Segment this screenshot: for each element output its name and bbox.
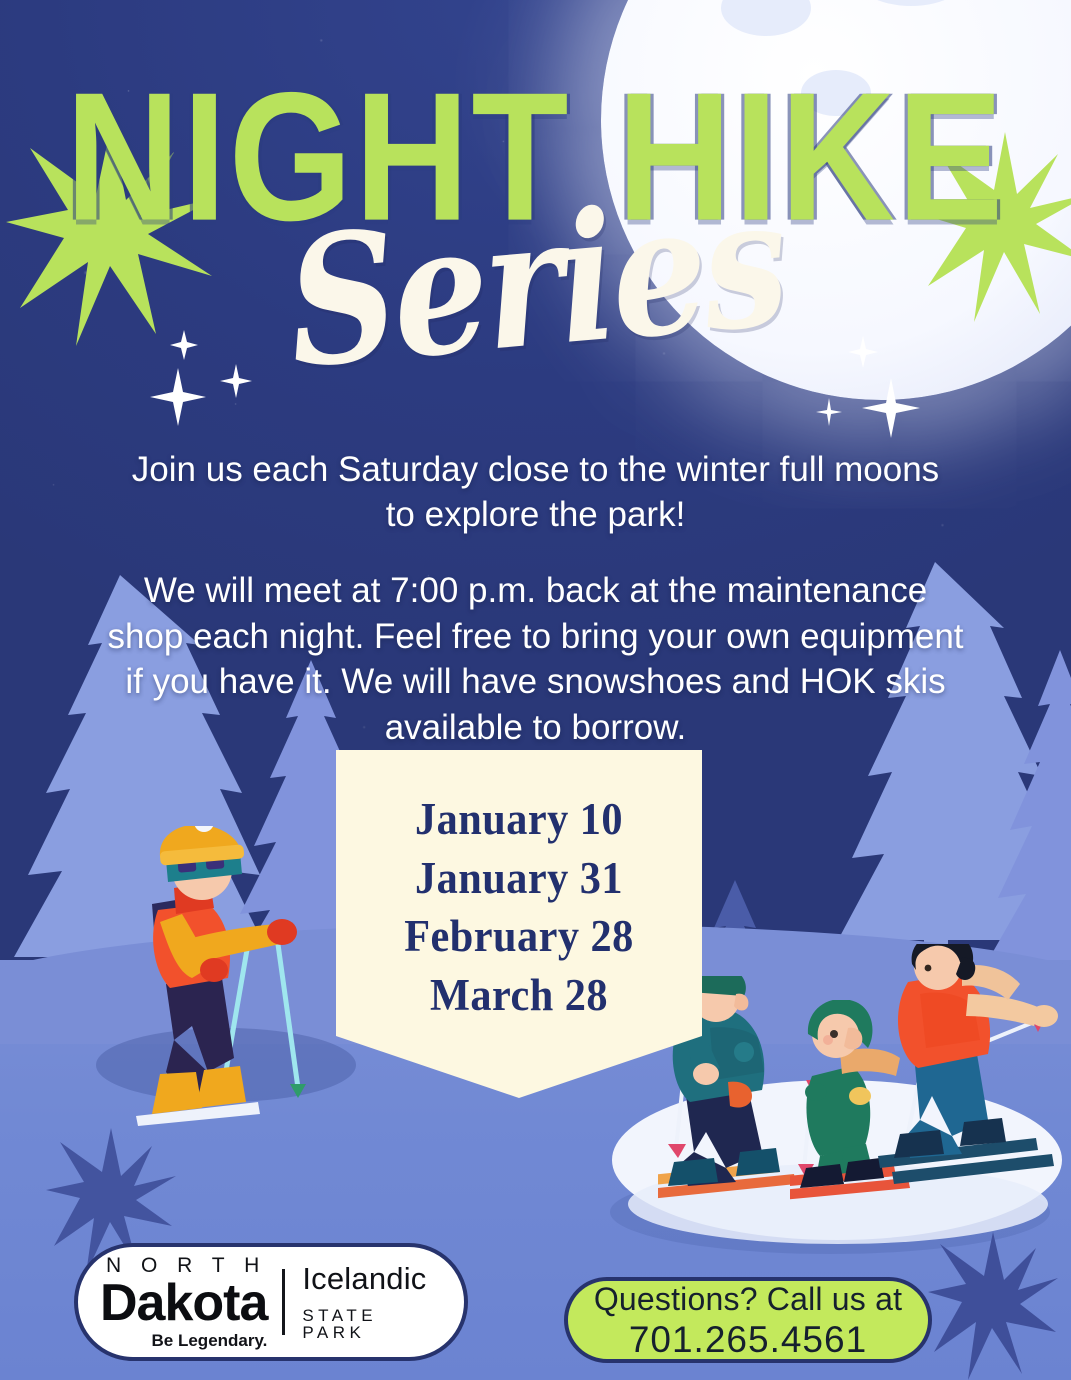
logo-dakota-text: Dakota — [100, 1277, 267, 1329]
title-script-text: Series — [281, 173, 790, 393]
moon-crater — [721, 0, 811, 36]
nd-parks-logo: N O R T H Dakota Be Legendary. Icelandic… — [74, 1243, 468, 1361]
contact-pill[interactable]: Questions? Call us at 701.265.4561 — [564, 1277, 932, 1363]
sparkle-star-icon — [150, 368, 206, 431]
skier-icon — [876, 944, 1071, 1204]
night-hike-poster: NIGHT HIKE Series Join us each Saturday … — [0, 0, 1071, 1380]
logo-north-text: N O R T H — [100, 1255, 267, 1276]
moon-crater — [801, 70, 871, 116]
poster-subtitle: Series — [0, 208, 1071, 358]
contact-phone-number[interactable]: 701.265.4561 — [629, 1321, 867, 1358]
logo-left-block: N O R T H Dakota Be Legendary. — [100, 1255, 267, 1349]
sparkle-star-icon — [816, 398, 842, 431]
date-item: January 10 — [347, 790, 691, 849]
sparkle-star-icon — [862, 378, 920, 443]
date-item: March 28 — [347, 966, 691, 1025]
contact-question: Questions? Call us at — [594, 1283, 902, 1315]
logo-divider — [282, 1269, 285, 1335]
date-item: January 31 — [347, 849, 691, 908]
dates-list: January 10 January 31 February 28 March … — [336, 750, 702, 1036]
starburst-icon — [928, 1232, 1058, 1380]
sparkle-star-icon — [220, 364, 252, 403]
banner-point — [336, 1036, 702, 1098]
skier-icon — [130, 826, 370, 1126]
details-paragraph: We will meet at 7:00 p.m. back at the ma… — [106, 568, 966, 750]
date-item: February 28 — [347, 907, 691, 966]
logo-park-name: Icelandic — [302, 1263, 446, 1294]
moon-crater — [851, 0, 971, 6]
dates-banner: January 10 January 31 February 28 March … — [336, 750, 702, 1098]
logo-park-type: STATE PARK — [302, 1307, 446, 1341]
intro-paragraph: Join us each Saturday close to the winte… — [126, 448, 946, 538]
pine-tree-icon — [960, 650, 1071, 990]
logo-tagline-text: Be Legendary. — [100, 1332, 267, 1349]
logo-right-block: Icelandic STATE PARK — [302, 1263, 446, 1341]
